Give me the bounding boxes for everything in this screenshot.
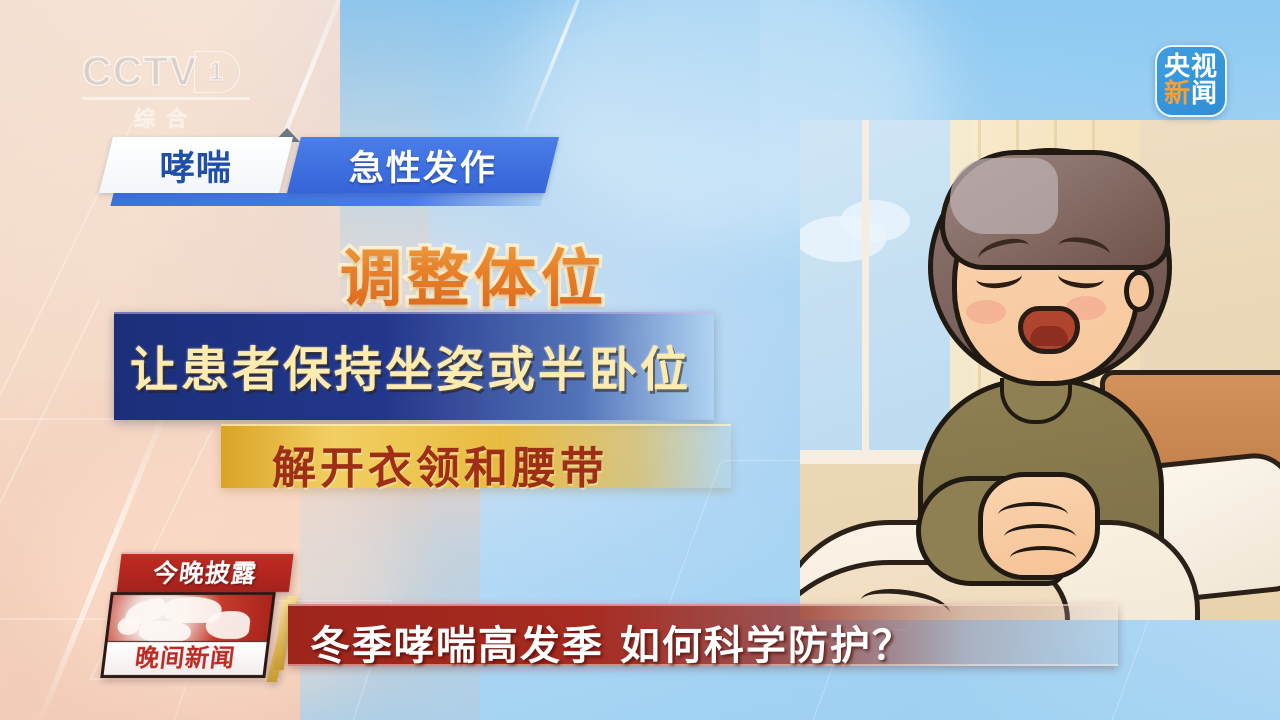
program-bug-top-label: 今晚披露	[117, 554, 294, 594]
hair-grey-highlight	[950, 158, 1058, 234]
broadcast-screen: CCTV 1 综合 央视 新闻 哮喘 急性发作 调整体位 调整体位 让患者保持坐…	[0, 0, 1280, 720]
banner-topic-label: 哮喘	[160, 140, 232, 191]
globe-landmass-4	[204, 611, 251, 639]
banner-underbar	[110, 193, 543, 206]
cctv-news-badge-line2: 新闻	[1164, 81, 1218, 108]
tongue	[1030, 326, 1068, 346]
banner-topic-chip: 哮喘	[99, 137, 293, 193]
gold-advice-text: 解开衣领和腰带	[272, 432, 608, 496]
banner-state-label: 急性发作	[349, 140, 497, 191]
cctv-logo-underline	[82, 97, 250, 100]
globe-landmass-3	[138, 621, 193, 643]
program-bug-bottom-label: 晚间新闻	[104, 642, 267, 674]
patient-illustration	[800, 120, 1280, 620]
cloud-icon-2	[840, 200, 910, 242]
cctv-logo-text: CCTV	[82, 48, 198, 95]
cctv-logo-subtitle: 综合	[82, 103, 250, 133]
cctv-news-badge-char-new: 新	[1164, 79, 1191, 109]
cctv-logo-number: 1	[194, 51, 240, 93]
cctv-news-badge: 央视 新闻	[1155, 45, 1227, 117]
banner-state-chip: 急性发作	[287, 137, 559, 193]
globe-landmass-5	[117, 617, 141, 635]
cctv-channel-logo: CCTV 1 综合	[82, 48, 297, 130]
program-bug: 今晚披露 晚间新闻	[96, 552, 293, 678]
cctv-logo-wordmark: CCTV 1	[82, 48, 297, 95]
topic-banner: 哮喘 急性发作	[106, 137, 552, 193]
navy-advice-text: 让患者保持坐姿或半卧位	[130, 330, 691, 400]
cctv-news-badge-char-news: 闻	[1191, 79, 1218, 109]
cctv-news-badge-line1: 央视	[1164, 54, 1218, 81]
news-ticker-headline: 冬季哮喘高发季 如何科学防护？	[310, 613, 914, 671]
ear	[1124, 270, 1154, 312]
program-bug-top-banner: 今晚披露	[117, 552, 294, 592]
finger-line-3	[1010, 546, 1076, 570]
program-bug-bottom-banner: 晚间新闻	[100, 642, 269, 678]
window-frame	[862, 120, 869, 460]
gold-headline: 调整体位	[340, 228, 608, 318]
cheek-left	[966, 300, 1006, 324]
globe-icon	[104, 592, 275, 644]
